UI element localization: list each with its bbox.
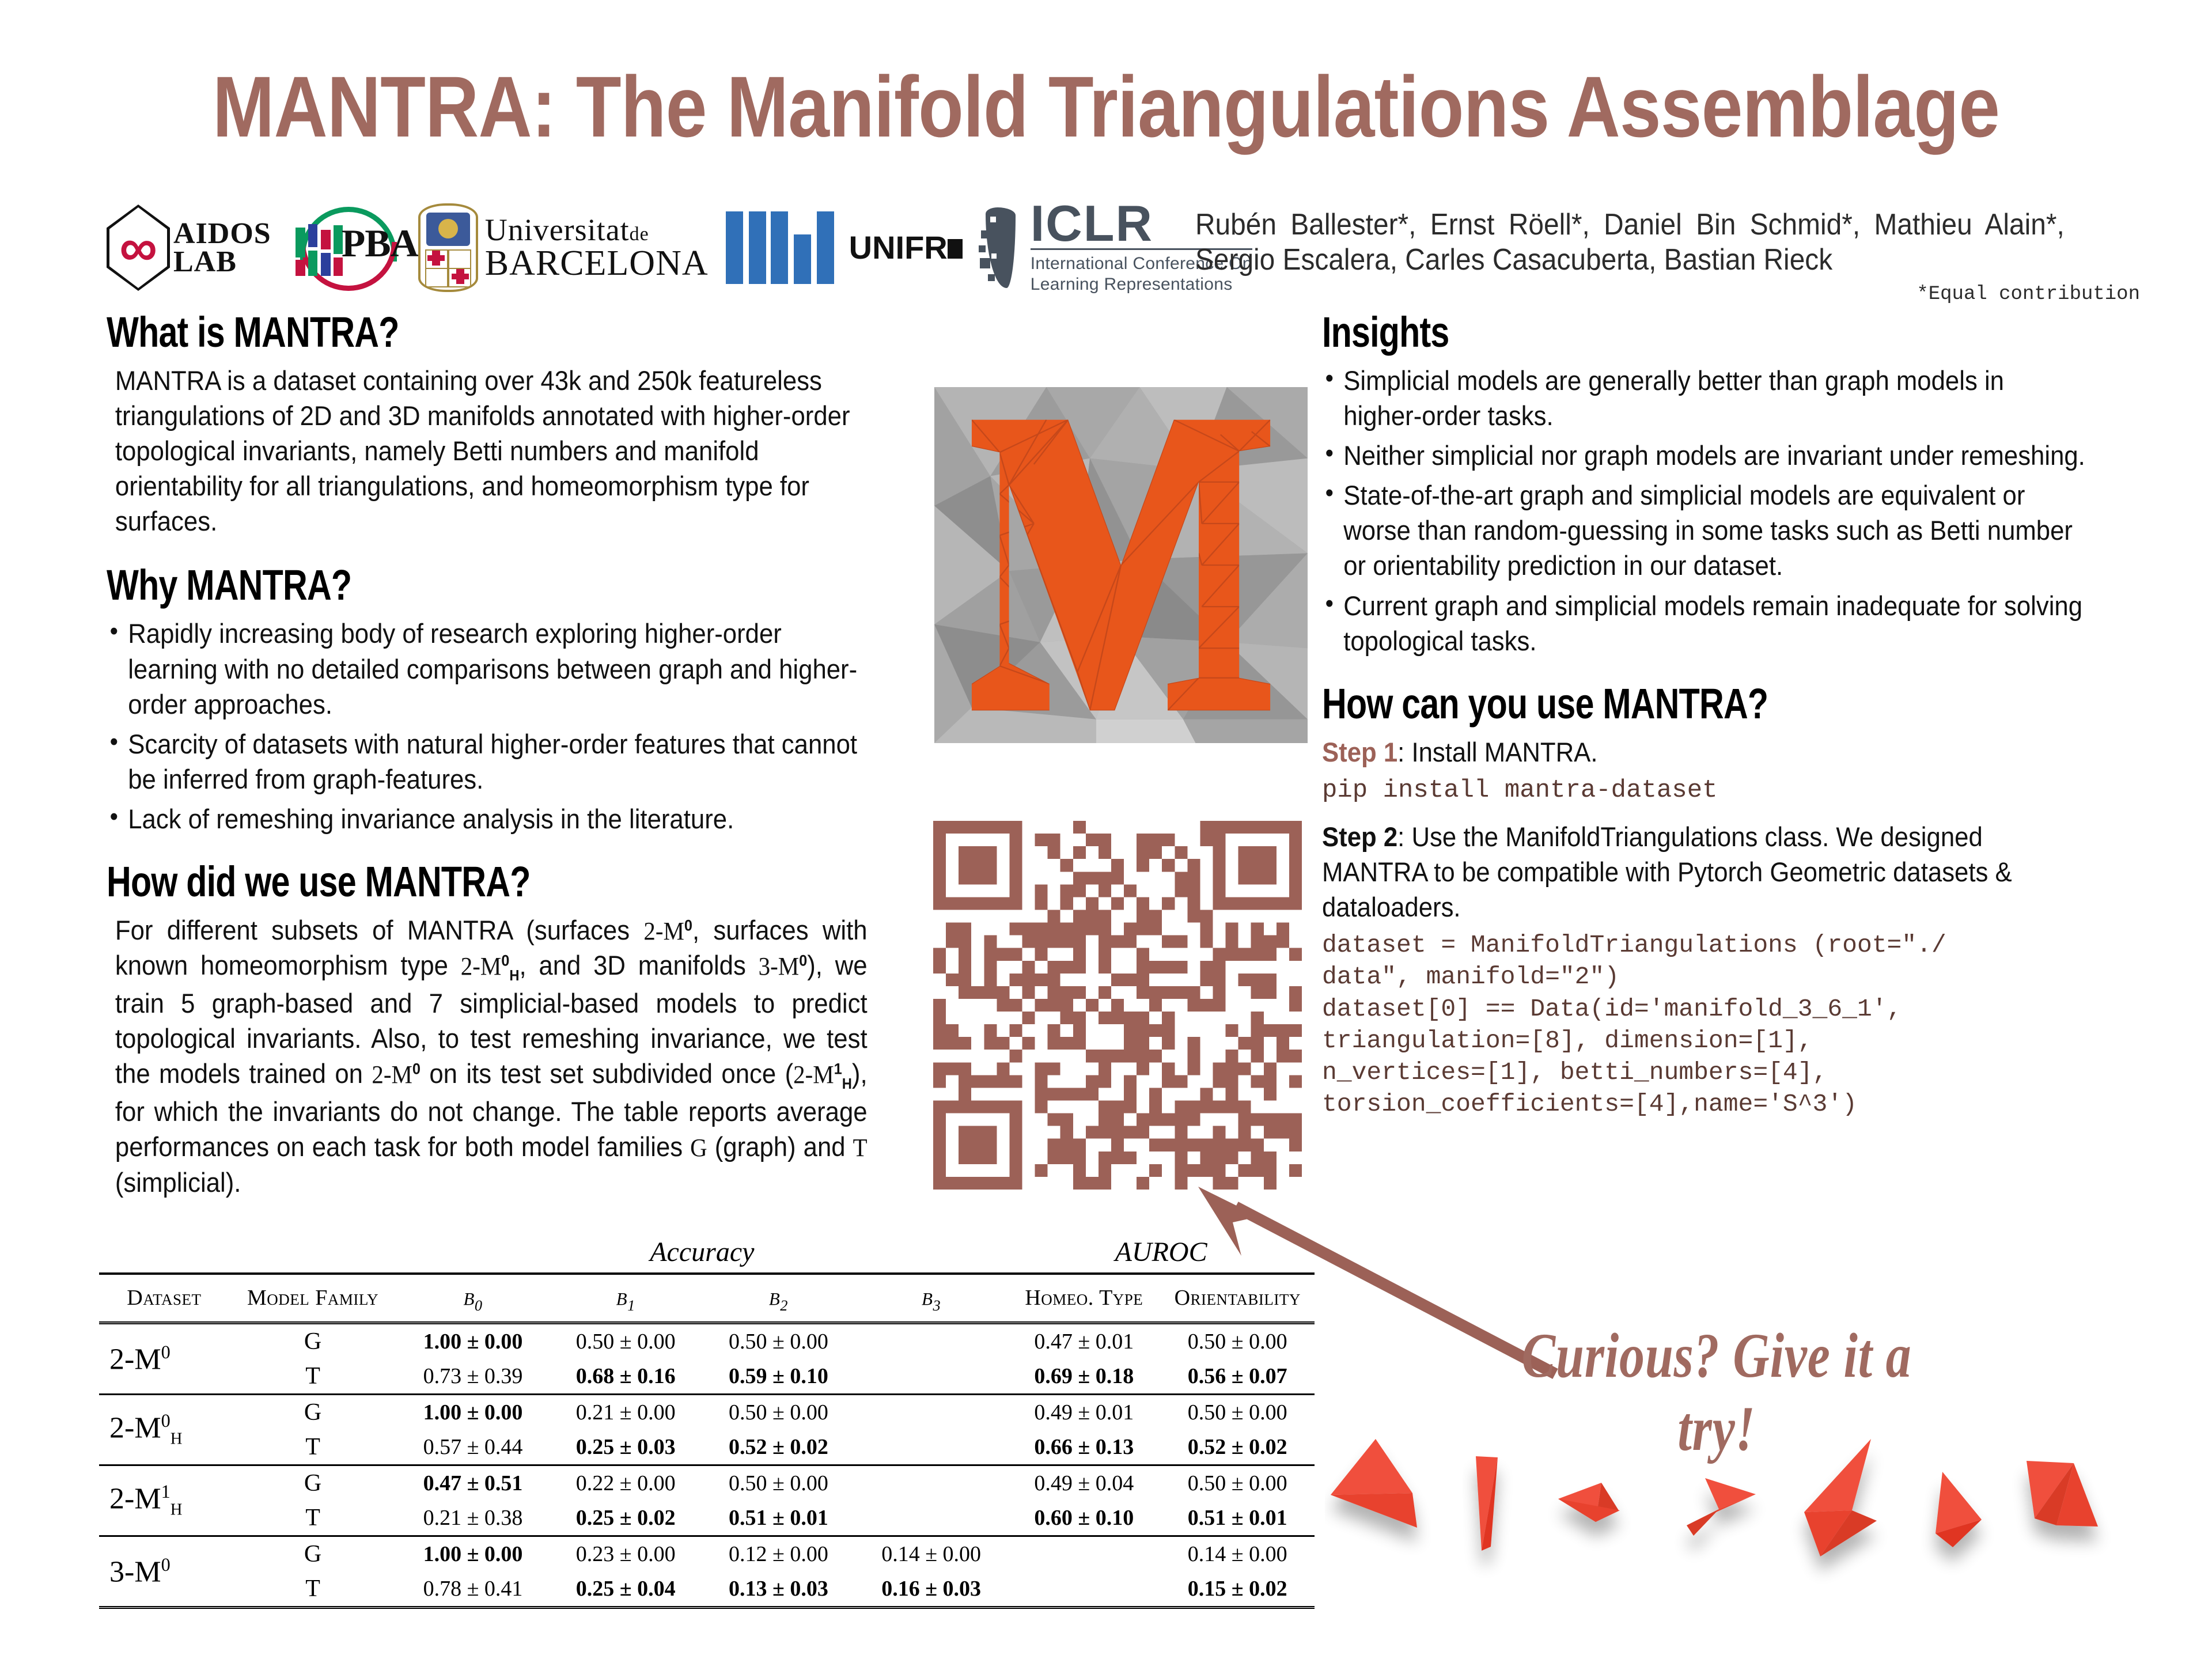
usage-example-code[interactable]: dataset = ManifoldTriangulations (root="…	[1322, 929, 2146, 1119]
tum-logo	[726, 211, 834, 284]
homeo-type-cell	[1007, 1536, 1160, 1571]
table-row: 2-M0HG1.00 ± 0.000.21 ± 0.000.50 ± 0.000…	[99, 1394, 1315, 1430]
aidos-lab-logo: ∞ AIDOS LAB	[107, 204, 271, 291]
homeo-type-cell: 0.69 ± 0.18	[1007, 1359, 1160, 1395]
dataset-label: 2-M0	[99, 1323, 229, 1394]
group-header-auroc: AUROC	[1007, 1233, 1315, 1274]
col-beta1: β1	[550, 1274, 702, 1323]
model-family-cell: T	[229, 1501, 397, 1536]
section-heading-what-is-mantra: What is MANTRA?	[107, 311, 761, 354]
list-item: Rapidly increasing body of research expl…	[107, 616, 868, 721]
beta3-cell: 0.14 ± 0.00	[855, 1536, 1007, 1571]
orientability-cell: 0.15 ± 0.02	[1160, 1571, 1315, 1608]
list-item: State-of-the-art graph and simplicial mo…	[1322, 478, 2088, 583]
triangle-5	[1804, 1439, 1877, 1556]
homeo-type-cell: 0.66 ± 0.13	[1007, 1430, 1160, 1465]
equal-contribution-note: *Equal contribution	[1195, 283, 2140, 305]
orientability-cell: 0.56 ± 0.07	[1160, 1359, 1315, 1395]
beta2-cell: 0.50 ± 0.00	[702, 1465, 855, 1501]
ub-seal-icon	[418, 203, 478, 292]
col-dataset: Dataset	[99, 1274, 229, 1323]
hexagon-icon: ∞	[107, 204, 170, 291]
step-2-label: Step 2	[1322, 821, 1397, 852]
col-orientability: Orientability	[1160, 1274, 1315, 1323]
results-table-body: 2-M0G1.00 ± 0.000.50 ± 0.000.50 ± 0.000.…	[99, 1323, 1315, 1609]
step-1-label: Step 1	[1322, 737, 1397, 767]
list-item: Current graph and simplicial models rema…	[1322, 588, 2088, 658]
beta3-cell	[855, 1465, 1007, 1501]
universitat-de-barcelona-logo: Universitatde BARCELONA	[418, 204, 709, 291]
model-family-cell: G	[229, 1394, 397, 1430]
col-model-family: Model Family	[229, 1274, 397, 1323]
orientability-cell: 0.51 ± 0.01	[1160, 1501, 1315, 1536]
table-row: 2-M1HG0.47 ± 0.510.22 ± 0.000.50 ± 0.000…	[99, 1465, 1315, 1501]
beta1-cell: 0.50 ± 0.00	[550, 1323, 702, 1359]
homeo-type-cell	[1007, 1571, 1160, 1608]
beta3-cell	[855, 1359, 1007, 1395]
insights-bullets: Simplicial models are generally better t…	[1322, 363, 2146, 658]
homeo-type-cell: 0.49 ± 0.04	[1007, 1465, 1160, 1501]
logo-strip: ∞ AIDOS LAB PBA	[107, 199, 1252, 297]
model-family-cell: G	[229, 1323, 397, 1359]
section-heading-how-can-you-use: How can you use MANTRA?	[1322, 683, 1981, 725]
list-item: Simplicial models are generally better t…	[1322, 363, 2088, 433]
beta1-cell: 0.22 ± 0.00	[550, 1465, 702, 1501]
left-column: What is MANTRA? MANTRA is a dataset cont…	[107, 311, 925, 1206]
orientability-cell: 0.52 ± 0.02	[1160, 1430, 1315, 1465]
beta0-cell: 1.00 ± 0.00	[396, 1394, 549, 1430]
beta2-cell: 0.51 ± 0.01	[702, 1501, 855, 1536]
beta3-cell	[855, 1501, 1007, 1536]
homeo-type-cell: 0.49 ± 0.01	[1007, 1394, 1160, 1430]
dataset-label: 3-M0	[99, 1536, 229, 1607]
beta0-cell: 0.78 ± 0.41	[396, 1571, 549, 1608]
table-group-header-row: Accuracy AUROC	[99, 1233, 1315, 1274]
hupba-wordmark: PBA	[342, 221, 418, 266]
model-family-cell: G	[229, 1465, 397, 1501]
aidos-lab-wordmark: AIDOS LAB	[173, 219, 271, 276]
homeo-type-cell: 0.47 ± 0.01	[1007, 1323, 1160, 1359]
ub-wordmark: Universitatde BARCELONA	[485, 214, 709, 281]
step-2-line: Step 2: Use the ManifoldTriangulations c…	[1322, 819, 2088, 925]
list-item: Lack of remeshing invariance analysis in…	[107, 801, 868, 836]
dataset-label: 2-M0H	[99, 1394, 229, 1465]
table-row: T0.78 ± 0.410.25 ± 0.040.13 ± 0.030.16 ±…	[99, 1571, 1315, 1608]
origami-triangle-decorations	[1325, 1423, 2189, 1653]
what-is-mantra-body: MANTRA is a dataset containing over 43k …	[107, 363, 868, 539]
beta0-cell: 1.00 ± 0.00	[396, 1323, 549, 1359]
beta2-cell: 0.12 ± 0.00	[702, 1536, 855, 1571]
col-beta2: β2	[702, 1274, 855, 1323]
infinity-icon: ∞	[119, 221, 157, 274]
model-family-cell: G	[229, 1536, 397, 1571]
uni-fr-logo: UNI FR	[849, 204, 963, 291]
beta1-cell: 0.21 ± 0.00	[550, 1394, 702, 1430]
list-item: Scarcity of datasets with natural higher…	[107, 726, 868, 797]
qr-code[interactable]	[933, 821, 1302, 1190]
page-title: MANTRA: The Manifold Triangulations Asse…	[155, 63, 2057, 150]
beta2-cell: 0.13 ± 0.03	[702, 1571, 855, 1608]
iclr-face-icon	[979, 207, 1021, 288]
triangle-3	[1558, 1483, 1620, 1522]
beta1-cell: 0.68 ± 0.16	[550, 1359, 702, 1395]
beta2-cell: 0.59 ± 0.10	[702, 1359, 855, 1395]
beta1-cell: 0.23 ± 0.00	[550, 1536, 702, 1571]
table-bottom-rule	[99, 1607, 1315, 1609]
orientability-cell: 0.14 ± 0.00	[1160, 1536, 1315, 1571]
model-family-cell: T	[229, 1430, 397, 1465]
section-heading-insights: Insights	[1322, 311, 1981, 354]
beta0-cell: 0.47 ± 0.51	[396, 1465, 549, 1501]
dataset-label: 2-M1H	[99, 1465, 229, 1536]
beta0-cell: 1.00 ± 0.00	[396, 1536, 549, 1571]
beta3-cell: 0.16 ± 0.03	[855, 1571, 1007, 1608]
beta0-cell: 0.21 ± 0.38	[396, 1501, 549, 1536]
col-beta0: β0	[396, 1274, 549, 1323]
orientability-cell: 0.50 ± 0.00	[1160, 1394, 1315, 1430]
homeo-type-cell: 0.60 ± 0.10	[1007, 1501, 1160, 1536]
step-1-line: Step 1: Install MANTRA.	[1322, 734, 2088, 770]
list-item: Neither simplicial nor graph models are …	[1322, 438, 2088, 473]
orientability-cell: 0.50 ± 0.00	[1160, 1465, 1315, 1501]
table-row: T0.73 ± 0.390.68 ± 0.160.59 ± 0.100.69 ±…	[99, 1359, 1315, 1395]
table-row: T0.57 ± 0.440.25 ± 0.030.52 ± 0.020.66 ±…	[99, 1430, 1315, 1465]
beta3-cell	[855, 1430, 1007, 1465]
col-homeo-type: Homeo. Type	[1007, 1274, 1160, 1323]
results-table-container: Accuracy AUROC Dataset Model Family β0 β…	[99, 1233, 1315, 1609]
beta1-cell: 0.25 ± 0.04	[550, 1571, 702, 1608]
beta0-cell: 0.73 ± 0.39	[396, 1359, 549, 1395]
table-row: T0.21 ± 0.380.25 ± 0.020.51 ± 0.010.60 ±…	[99, 1501, 1315, 1536]
beta3-cell	[855, 1323, 1007, 1359]
beta2-cell: 0.52 ± 0.02	[702, 1430, 855, 1465]
section-heading-how-did-we-use: How did we use MANTRA?	[107, 861, 761, 903]
model-family-cell: T	[229, 1571, 397, 1608]
how-did-we-use-body: For different subsets of MANTRA (surface…	[107, 912, 868, 1200]
triangle-4	[1687, 1478, 1756, 1536]
col-beta3: β3	[855, 1274, 1007, 1323]
section-heading-why-mantra: Why MANTRA?	[107, 564, 761, 607]
results-table: Accuracy AUROC Dataset Model Family β0 β…	[99, 1233, 1315, 1609]
triangle-6	[1935, 1472, 1982, 1547]
triangulated-m-svg	[934, 387, 1308, 743]
hupba-logo: PBA	[279, 204, 403, 291]
author-list: Rubén Ballester*, Ernst Röell*, Daniel B…	[1195, 207, 2065, 278]
right-column: Insights Simplicial models are generally…	[1322, 311, 2146, 1132]
beta1-cell: 0.25 ± 0.02	[550, 1501, 702, 1536]
hupba-mark	[296, 224, 345, 276]
group-header-accuracy: Accuracy	[396, 1233, 1007, 1274]
table-column-header-row: Dataset Model Family β0 β1 β2 β3 Homeo. …	[99, 1274, 1315, 1323]
why-mantra-bullets: Rapidly increasing body of research expl…	[107, 616, 925, 836]
model-family-cell: T	[229, 1359, 397, 1395]
mantra-m-logo-image	[934, 387, 1308, 743]
triangle-7	[2027, 1461, 2098, 1527]
beta0-cell: 0.57 ± 0.44	[396, 1430, 549, 1465]
orientability-cell: 0.50 ± 0.00	[1160, 1323, 1315, 1359]
table-row: 2-M0G1.00 ± 0.000.50 ± 0.000.50 ± 0.000.…	[99, 1323, 1315, 1359]
beta2-cell: 0.50 ± 0.00	[702, 1394, 855, 1430]
table-row: 3-M0G1.00 ± 0.000.23 ± 0.000.12 ± 0.000.…	[99, 1536, 1315, 1571]
triangle-2	[1476, 1456, 1498, 1551]
beta1-cell: 0.25 ± 0.03	[550, 1430, 702, 1465]
triangle-1	[1331, 1439, 1417, 1528]
install-command-code[interactable]: pip install mantra-dataset	[1322, 774, 2146, 806]
beta2-cell: 0.50 ± 0.00	[702, 1323, 855, 1359]
beta3-cell	[855, 1394, 1007, 1430]
